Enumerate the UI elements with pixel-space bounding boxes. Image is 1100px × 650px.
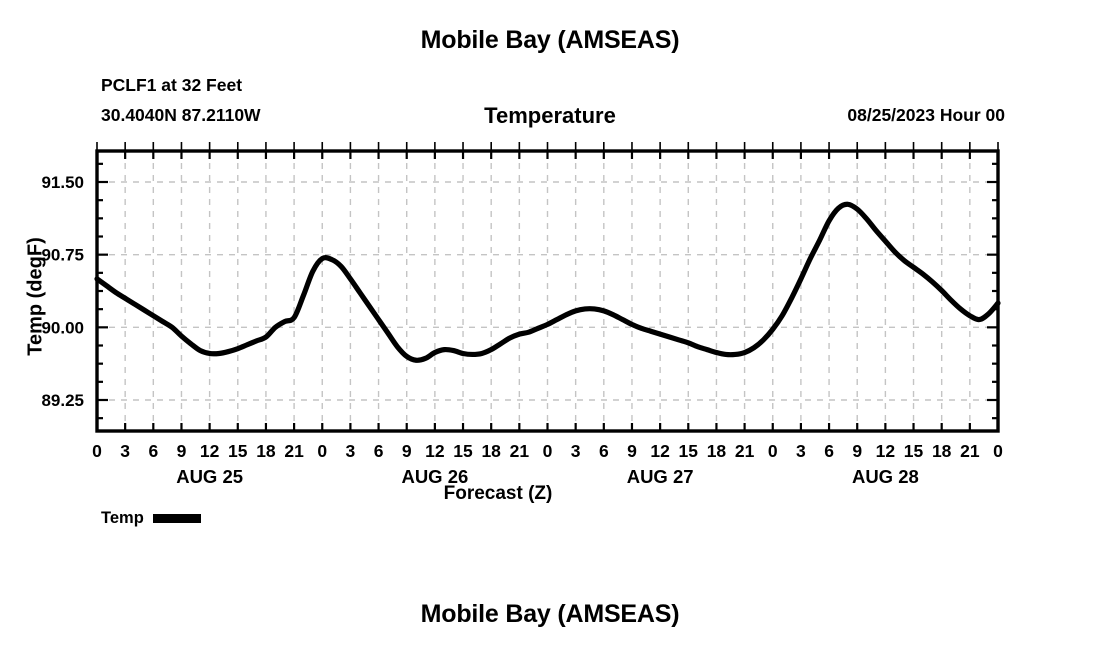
x-tick-label: 15: [679, 441, 699, 461]
x-tick-label: 21: [284, 441, 304, 461]
axis-tick-labels: 89.2590.0090.7591.5003691215182103691215…: [41, 173, 1003, 487]
x-tick-label: 9: [852, 441, 862, 461]
x-tick-label: 6: [824, 441, 834, 461]
x-axis-day-label: AUG 26: [401, 466, 468, 487]
temperature-line-chart: 89.2590.0090.7591.5003691215182103691215…: [0, 0, 1100, 650]
x-tick-label: 12: [200, 441, 220, 461]
x-tick-label: 15: [904, 441, 924, 461]
x-tick-label: 21: [735, 441, 755, 461]
x-tick-label: 0: [993, 441, 1003, 461]
x-tick-label: 15: [453, 441, 473, 461]
x-tick-label: 3: [796, 441, 806, 461]
x-axis-day-label: AUG 25: [176, 466, 243, 487]
plot-area: 89.2590.0090.7591.5003691215182103691215…: [0, 0, 1100, 650]
y-tick-label: 90.75: [41, 246, 84, 265]
x-tick-label: 12: [425, 441, 445, 461]
x-tick-label: 0: [543, 441, 553, 461]
x-tick-label: 21: [510, 441, 530, 461]
y-tick-label: 90.00: [41, 318, 84, 337]
x-tick-label: 9: [627, 441, 637, 461]
chart-page: Mobile Bay (AMSEAS) PCLF1 at 32 Feet 30.…: [0, 0, 1100, 650]
legend: Temp: [101, 509, 201, 528]
x-tick-label: 15: [228, 441, 248, 461]
y-tick-label: 89.25: [41, 391, 84, 410]
x-tick-label: 3: [346, 441, 356, 461]
x-tick-label: 9: [402, 441, 412, 461]
x-tick-label: 0: [317, 441, 327, 461]
x-tick-label: 12: [650, 441, 670, 461]
x-tick-label: 18: [932, 441, 952, 461]
x-tick-label: 3: [571, 441, 581, 461]
x-tick-label: 21: [960, 441, 980, 461]
x-tick-label: 18: [707, 441, 727, 461]
x-tick-label: 9: [177, 441, 187, 461]
x-tick-label: 18: [481, 441, 501, 461]
x-axis-day-label: AUG 27: [627, 466, 694, 487]
footer-title: Mobile Bay (AMSEAS): [0, 600, 1100, 629]
legend-swatch-temp: [153, 514, 201, 523]
x-axis-day-label: AUG 28: [852, 466, 919, 487]
y-tick-label: 91.50: [41, 173, 84, 192]
x-tick-label: 0: [92, 441, 102, 461]
x-tick-label: 0: [768, 441, 778, 461]
x-tick-label: 6: [374, 441, 384, 461]
x-tick-label: 6: [599, 441, 609, 461]
x-tick-label: 6: [148, 441, 158, 461]
x-tick-label: 18: [256, 441, 276, 461]
x-tick-label: 12: [876, 441, 896, 461]
gridlines: [97, 151, 998, 431]
x-tick-label: 3: [120, 441, 130, 461]
legend-label-temp: Temp: [101, 509, 144, 528]
